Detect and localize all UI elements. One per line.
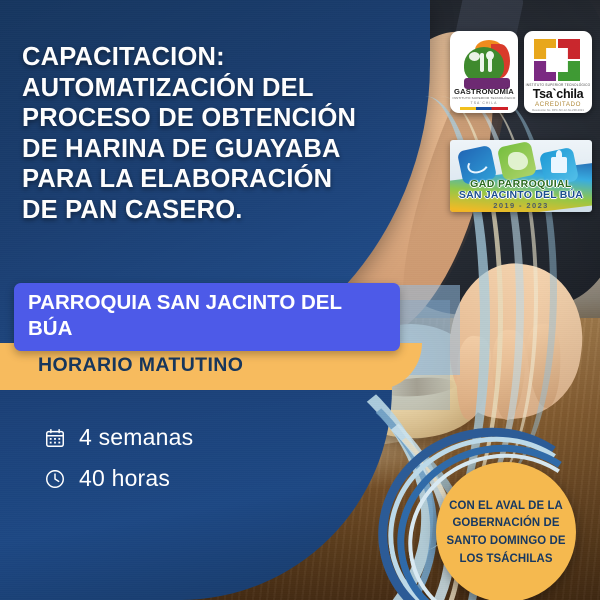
tsachila-accredited: ACREDITADO — [524, 101, 592, 108]
mark-quadrant-green — [558, 61, 580, 81]
institution-logos: GASTRONOMÍA INSTITUTO SUPERIOR TECNOLÓGI… — [450, 31, 592, 113]
detail-value-hours: 40 horas — [79, 465, 170, 492]
mark-quadrant-red — [558, 39, 580, 59]
gastronomia-logo-sub2: TSA`CHILA — [450, 101, 518, 105]
hat-highlight — [469, 52, 480, 61]
course-promo-poster: CAPACITACION: AUTOMATIZACIÓN DEL PROCESO… — [0, 0, 600, 600]
course-details: 4 semanas 40 horas — [44, 424, 193, 506]
detail-value-weeks: 4 semanas — [79, 424, 193, 451]
tsachila-logo: INSTITUTO SUPERIOR TECNOLÓGICO Tsa`chila… — [524, 31, 592, 113]
mark-quadrant-yellow — [534, 39, 556, 59]
spoon-icon — [488, 53, 492, 72]
title-line-1: CAPACITACION: — [22, 42, 382, 73]
endorsement-seal: CON EL AVAL DE LA GOBERNACIÓN DE SANTO D… — [412, 452, 588, 600]
calendar-icon — [44, 427, 66, 449]
title-line-3: PROCESO DE OBTENCIÓN — [22, 103, 382, 134]
leaf-icon — [508, 152, 528, 170]
gad-logo-line2: SAN JACINTO DEL BÚA — [450, 189, 592, 201]
parish-banner: PARROQUIA SAN JACINTO DEL BÚA — [14, 283, 400, 351]
title-line-2: AUTOMATIZACIÓN DEL — [22, 73, 382, 104]
detail-row-hours: 40 horas — [44, 465, 193, 492]
schedule-label: HORARIO MATUTINO — [38, 354, 243, 377]
mark-quadrant-purple — [534, 61, 556, 81]
gastronomia-logo: GASTRONOMÍA INSTITUTO SUPERIOR TECNOLÓGI… — [450, 31, 518, 113]
title-line-6: DE PAN CASERO. — [22, 195, 382, 226]
gad-parroquial-logo: GAD PARROQUIAL SAN JACINTO DEL BÚA 2019 … — [450, 140, 592, 212]
ecuador-flag-stripe — [460, 107, 508, 110]
title-line-4: DE HARINA DE GUAYABA — [22, 134, 382, 165]
chef-hat-icon — [458, 38, 510, 84]
church-spire-icon — [556, 150, 562, 159]
tsachila-logo-name: Tsa`chila — [524, 87, 592, 101]
fork-icon — [480, 53, 484, 72]
gastronomia-logo-sub: INSTITUTO SUPERIOR TECNOLÓGICO — [450, 96, 518, 100]
gastronomia-logo-name: GASTRONOMÍA — [450, 87, 518, 96]
tsachila-mark-icon — [534, 39, 582, 83]
poster-title: CAPACITACION: AUTOMATIZACIÓN DEL PROCESO… — [22, 42, 382, 226]
detail-row-weeks: 4 semanas — [44, 424, 193, 451]
clock-icon — [44, 468, 66, 490]
gad-logo-years: 2019 - 2023 — [450, 201, 592, 210]
title-line-5: PARA LA ELABORACIÓN — [22, 164, 382, 195]
seal-text: CON EL AVAL DE LA GOBERNACIÓN DE SANTO D… — [442, 497, 571, 567]
tsachila-resolution: Resolución No. RPC-SO-12-No.238-2021 — [524, 108, 592, 112]
church-icon — [551, 157, 567, 173]
seal-circle: CON EL AVAL DE LA GOBERNACIÓN DE SANTO D… — [436, 462, 576, 600]
